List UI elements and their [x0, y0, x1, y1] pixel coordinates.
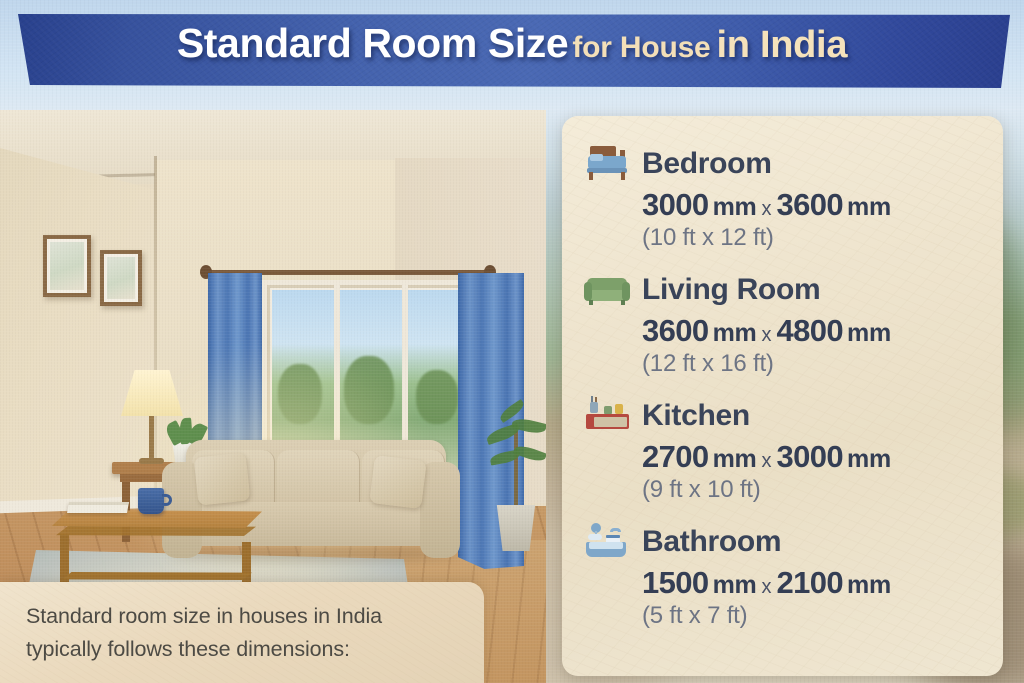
dimension-length: 3000	[776, 439, 843, 474]
dimension-length: 3600	[776, 187, 843, 222]
room-dimensions-feet: (9 ft x 10 ft)	[642, 476, 981, 504]
room-entry-kitchen[interactable]: Kitchen 2700mmx3000mm (9 ft x 10 ft)	[584, 396, 981, 504]
lamp-base	[139, 458, 164, 464]
dimension-unit: mm	[847, 319, 891, 347]
lamp-pole	[149, 416, 154, 462]
dimension-separator: x	[761, 450, 771, 472]
title-end: in India	[717, 24, 848, 66]
room-dimensions-mm: 2700mmx3000mm	[642, 439, 981, 475]
room-entry-living-room[interactable]: Living Room 3600mmx4800mm (12 ft x 16 ft…	[584, 270, 981, 378]
page-title: Standard Room Sizefor Housein India	[0, 20, 1024, 67]
room-name: Bathroom	[642, 525, 781, 559]
throw-pillow	[194, 452, 251, 505]
dimension-separator: x	[761, 324, 771, 346]
dimension-unit: mm	[713, 571, 757, 599]
room-entry-bathroom[interactable]: Bathroom 1500mmx2100mm (5 ft x 7 ft)	[584, 522, 981, 630]
plant-trunk	[514, 430, 518, 510]
room-dimensions-mm: 1500mmx2100mm	[642, 565, 981, 601]
room-dimensions-mm: 3600mmx4800mm	[642, 313, 981, 349]
dimension-width: 1500	[642, 565, 709, 600]
room-dimensions-feet: (5 ft x 7 ft)	[642, 602, 981, 630]
couch-icon	[584, 270, 630, 310]
title-mid: for House	[572, 31, 710, 64]
title-main: Standard Room Size	[177, 20, 568, 66]
dimension-width: 3000	[642, 187, 709, 222]
framed-picture-icon	[43, 235, 91, 297]
dimension-length: 2100	[776, 565, 843, 600]
room-dimensions-mm: 3000mmx3600mm	[642, 187, 981, 223]
title-banner: Standard Room Sizefor Housein India	[0, 14, 1024, 92]
dimension-width: 3600	[642, 313, 709, 348]
sofa-arm	[420, 462, 460, 558]
dimension-length: 4800	[776, 313, 843, 348]
dimension-unit: mm	[847, 193, 891, 221]
room-name: Living Room	[642, 273, 820, 307]
book-icon	[67, 502, 129, 513]
dimension-width: 2700	[642, 439, 709, 474]
blue-mug-icon	[138, 488, 164, 514]
room-dimensions-feet: (12 ft x 16 ft)	[642, 350, 981, 378]
throw-pillow	[369, 455, 426, 509]
room-name: Kitchen	[642, 399, 750, 433]
dimension-unit: mm	[847, 571, 891, 599]
room-dimensions-feet: (10 ft x 12 ft)	[642, 224, 981, 252]
room-name: Bedroom	[642, 147, 772, 181]
dimension-unit: mm	[847, 445, 891, 473]
coffee-table-shelf	[62, 572, 252, 580]
sofa-cushion	[277, 450, 360, 505]
room-sizes-panel: Bedroom 3000mmx3600mm (10 ft x 12 ft) Li…	[562, 116, 1003, 676]
bed-icon	[584, 144, 630, 184]
caption-line-1: Standard room size in houses in India	[26, 600, 458, 633]
dimension-separator: x	[761, 576, 771, 598]
kitchen-counter-icon	[584, 396, 630, 436]
dimension-unit: mm	[713, 319, 757, 347]
dimension-separator: x	[761, 198, 771, 220]
caption-box: Standard room size in houses in India ty…	[0, 582, 484, 683]
caption-line-2: typically follows these dimensions:	[26, 633, 458, 666]
dimension-unit: mm	[713, 193, 757, 221]
framed-picture-icon	[100, 250, 142, 306]
bathtub-icon	[584, 522, 630, 562]
room-entry-bedroom[interactable]: Bedroom 3000mmx3600mm (10 ft x 12 ft)	[584, 144, 981, 252]
dimension-unit: mm	[713, 445, 757, 473]
sofa-shadow	[170, 547, 460, 561]
